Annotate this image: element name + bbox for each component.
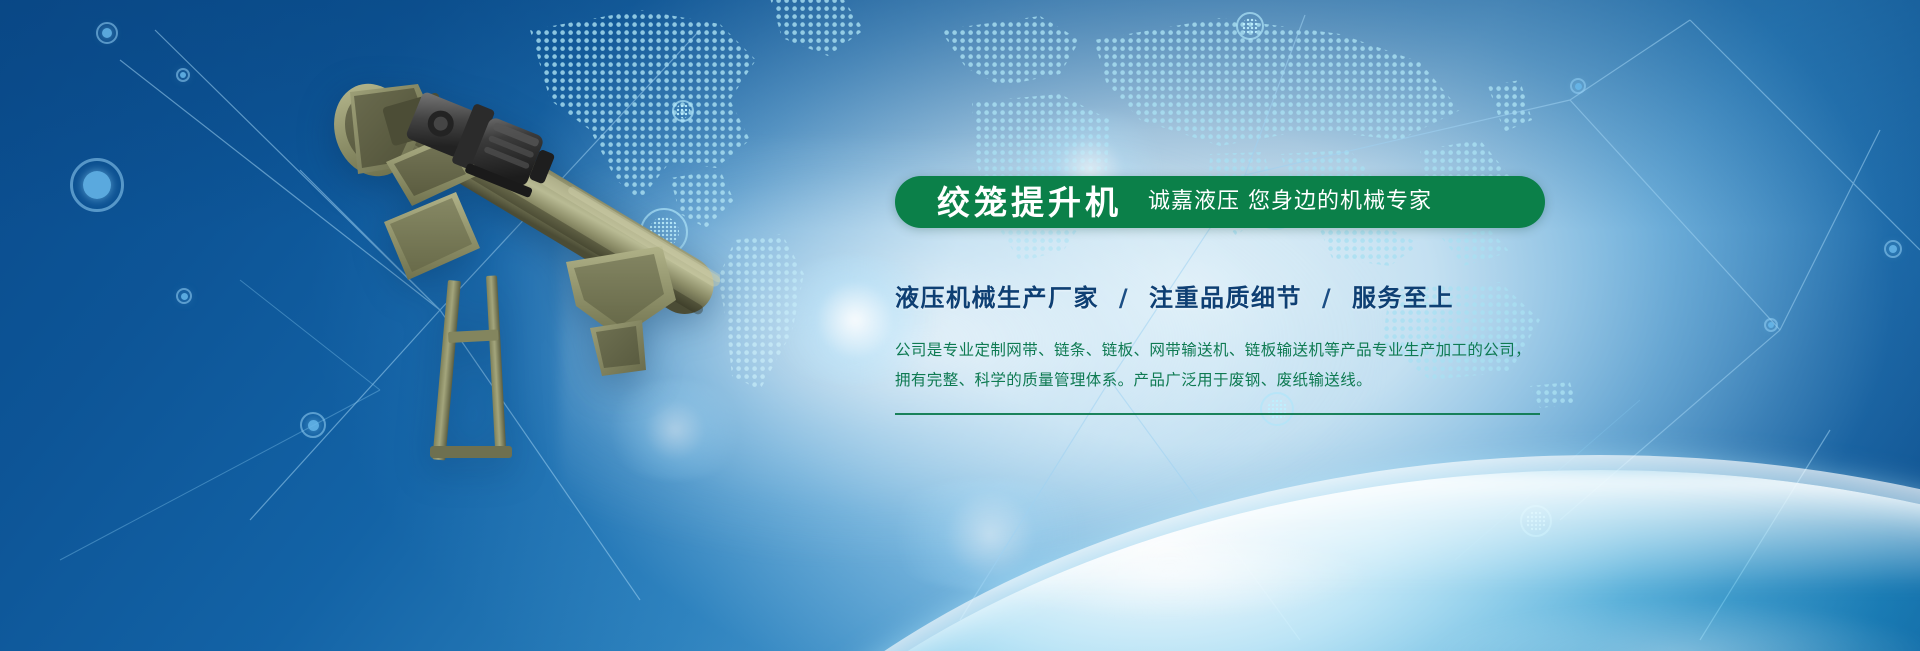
slogan-part-2: 注重品质细节	[1149, 284, 1302, 312]
cloud-wisp	[1420, 600, 1920, 651]
slogan-part-1: 液压机械生产厂家	[895, 284, 1099, 312]
network-node	[96, 22, 118, 44]
slogan-separator-2: /	[1312, 284, 1342, 312]
product-image-screw-conveyor	[290, 70, 720, 470]
network-node	[1570, 78, 1586, 94]
description-line-2: 拥有完整、科学的质量管理体系。产品广泛用于废钢、废纸输送线。	[895, 365, 1535, 395]
slogan-separator-1: /	[1109, 284, 1139, 312]
slogan-row: 液压机械生产厂家 / 注重品质细节 / 服务至上	[895, 278, 1575, 313]
banner-content: 绞笼提升机 诚嘉液压 您身边的机械专家 液压机械生产厂家 / 注重品质细节 / …	[895, 176, 1575, 415]
cloud-wisp	[960, 530, 1380, 620]
green-divider	[895, 413, 1540, 415]
network-node	[176, 288, 192, 304]
network-node	[1884, 240, 1902, 258]
network-node	[176, 68, 190, 82]
description-block: 公司是专业定制网带、链条、链板、网带输送机、链板输送机等产品专业生产加工的公司，…	[895, 335, 1535, 395]
slogan-part-3: 服务至上	[1352, 284, 1454, 312]
network-node	[70, 158, 124, 212]
hero-banner: 绞笼提升机 诚嘉液压 您身边的机械专家 液压机械生产厂家 / 注重品质细节 / …	[0, 0, 1920, 651]
network-node	[1764, 318, 1778, 332]
headline-pill: 绞笼提升机 诚嘉液压 您身边的机械专家	[895, 176, 1545, 228]
network-node-dotted	[1236, 12, 1264, 40]
description-line-1: 公司是专业定制网带、链条、链板、网带输送机、链板输送机等产品专业生产加工的公司，	[895, 335, 1535, 365]
headline-title: 绞笼提升机	[937, 186, 1122, 219]
headline-subtitle: 诚嘉液压 您身边的机械专家	[1148, 191, 1432, 213]
